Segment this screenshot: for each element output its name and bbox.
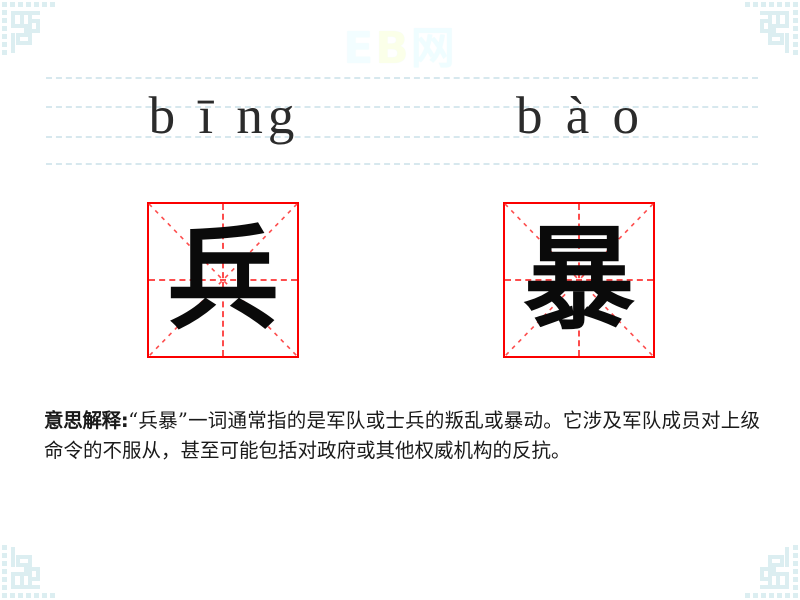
pinyin-row: b ī ng b à o	[46, 70, 758, 170]
character-row: 兵 暴	[46, 202, 758, 358]
flashcard-page: EB网 b ī ng b à o 兵	[0, 0, 800, 600]
tianzige-grid-2: 暴	[503, 202, 655, 358]
character-cell-1: 兵	[147, 202, 299, 358]
pinyin-cell-1: b ī ng	[46, 70, 402, 170]
corner-ornament-top-right	[742, 2, 798, 58]
corner-ornament-bottom-right	[742, 542, 798, 598]
character-cell-2: 暴	[503, 202, 655, 358]
pinyin-staff: b ī ng b à o	[46, 70, 758, 170]
meaning-body: “兵暴”一词通常指的是军队或士兵的叛乱或暴动。它涉及军队成员对上级命令的不服从，…	[44, 409, 760, 462]
hanzi-glyph-2: 暴	[505, 204, 653, 356]
meaning-label: 意思解释:	[44, 409, 128, 432]
tianzige-grid-1: 兵	[147, 202, 299, 358]
corner-ornament-top-left	[2, 2, 58, 58]
pinyin-text-1: b ī ng	[46, 66, 402, 166]
pinyin-cell-2: b à o	[402, 70, 758, 170]
corner-ornament-bottom-left	[2, 542, 58, 598]
hanzi-glyph-1: 兵	[149, 204, 297, 356]
meaning-paragraph: 意思解释:“兵暴”一词通常指的是军队或士兵的叛乱或暴动。它涉及军队成员对上级命令…	[44, 406, 760, 466]
pinyin-text-2: b à o	[402, 66, 758, 166]
